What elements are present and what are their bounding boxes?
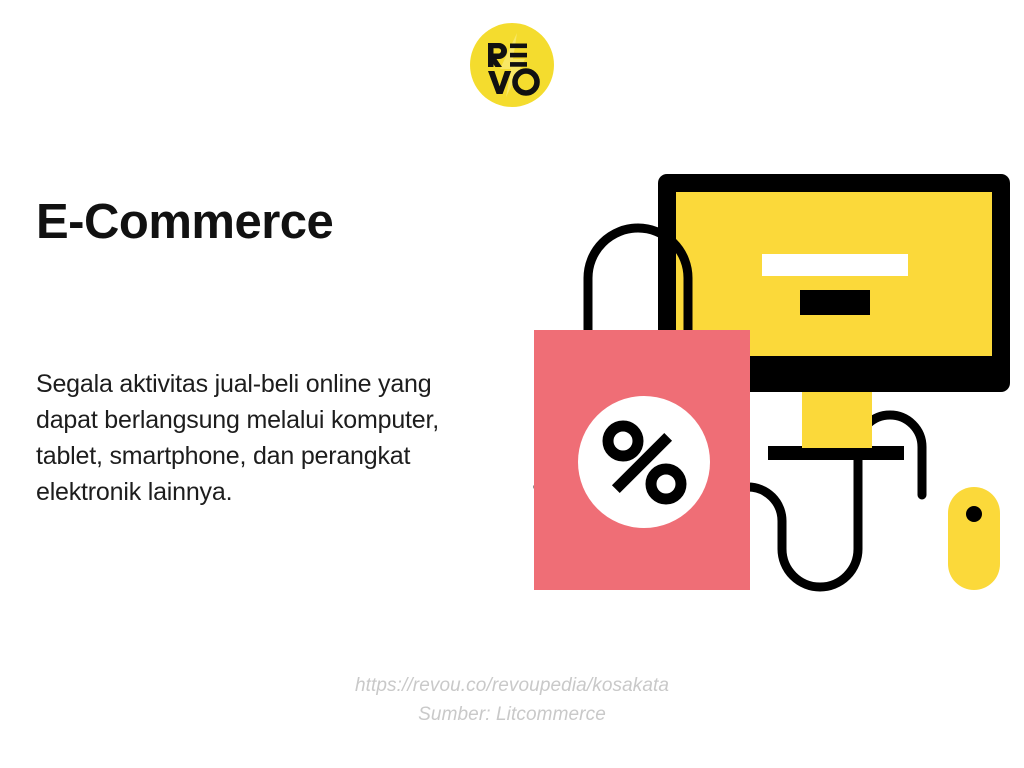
body-paragraph: Segala aktivitas jual-beli online yang d… [36, 366, 486, 510]
slide-canvas: E-Commerce Segala aktivitas jual-beli on… [0, 0, 1024, 768]
revo-logo[interactable] [470, 23, 554, 107]
footer-source: Sumber: Litcommerce [0, 701, 1024, 730]
monitor-base [768, 446, 904, 460]
heading-block: E-Commerce [36, 196, 496, 250]
ecommerce-illustration [510, 150, 1024, 620]
logo-letter-e [510, 44, 527, 67]
screen-button-bar [800, 290, 870, 315]
monitor-stand [802, 392, 872, 448]
computer-mouse [948, 487, 1000, 590]
mouse-button-dot [966, 506, 982, 522]
footer-url[interactable]: https://revou.co/revoupedia/kosakata [0, 672, 1024, 701]
page-title: E-Commerce [36, 196, 496, 250]
screen-search-bar [762, 254, 908, 276]
footer: https://revou.co/revoupedia/kosakata Sum… [0, 672, 1024, 729]
